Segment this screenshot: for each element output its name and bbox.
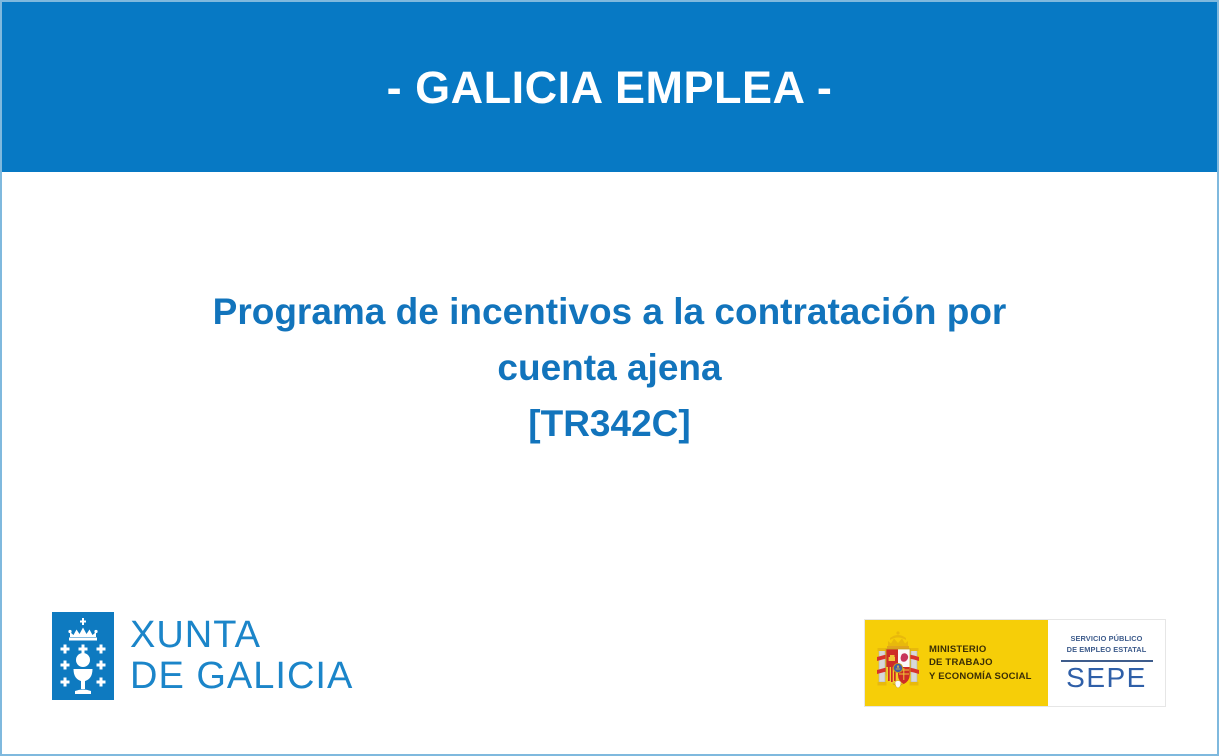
page-title-line-1: Programa de incentivos a la contratación… <box>110 284 1110 340</box>
sepe-wordmark: SEPE <box>1066 664 1147 692</box>
xunta-de-galicia-logo: XUNTA DE GALICIA <box>52 612 353 700</box>
presentation-slide: - GALICIA EMPLEA - Programa de incentivo… <box>0 0 1219 756</box>
sepe-subtitle: SERVICIO PÚBLICO DE EMPLEO ESTATAL <box>1067 634 1147 655</box>
sepe-panel: SERVICIO PÚBLICO DE EMPLEO ESTATAL SEPE <box>1048 620 1165 706</box>
ministerio-line-3: Y ECONOMÍA SOCIAL <box>929 670 1032 683</box>
page-title-line-3: [TR342C] <box>110 396 1110 452</box>
page-title-line-2: cuenta ajena <box>110 340 1110 396</box>
xunta-logo-wordmark: XUNTA DE GALICIA <box>130 615 353 696</box>
sepe-ministerio-logo: MINISTERIO DE TRABAJO Y ECONOMÍA SOCIAL … <box>864 619 1166 707</box>
page-title: Programa de incentivos a la contratación… <box>110 284 1110 453</box>
galicia-coat-of-arms-icon <box>52 612 114 700</box>
spain-coat-of-arms-icon <box>875 630 921 697</box>
xunta-logo-line-2: DE GALICIA <box>130 656 353 697</box>
xunta-logo-line-1: XUNTA <box>130 615 353 656</box>
ministerio-panel: MINISTERIO DE TRABAJO Y ECONOMÍA SOCIAL <box>865 620 1048 706</box>
ministerio-line-1: MINISTERIO <box>929 643 1032 656</box>
header-title: - GALICIA EMPLEA - <box>387 65 833 110</box>
ministerio-line-2: DE TRABAJO <box>929 656 1032 669</box>
sepe-subtitle-line-2: DE EMPLEO ESTATAL <box>1067 645 1147 656</box>
ministerio-wordmark: MINISTERIO DE TRABAJO Y ECONOMÍA SOCIAL <box>929 643 1032 683</box>
header-band: - GALICIA EMPLEA - <box>2 2 1217 172</box>
sepe-subtitle-line-1: SERVICIO PÚBLICO <box>1067 634 1147 645</box>
